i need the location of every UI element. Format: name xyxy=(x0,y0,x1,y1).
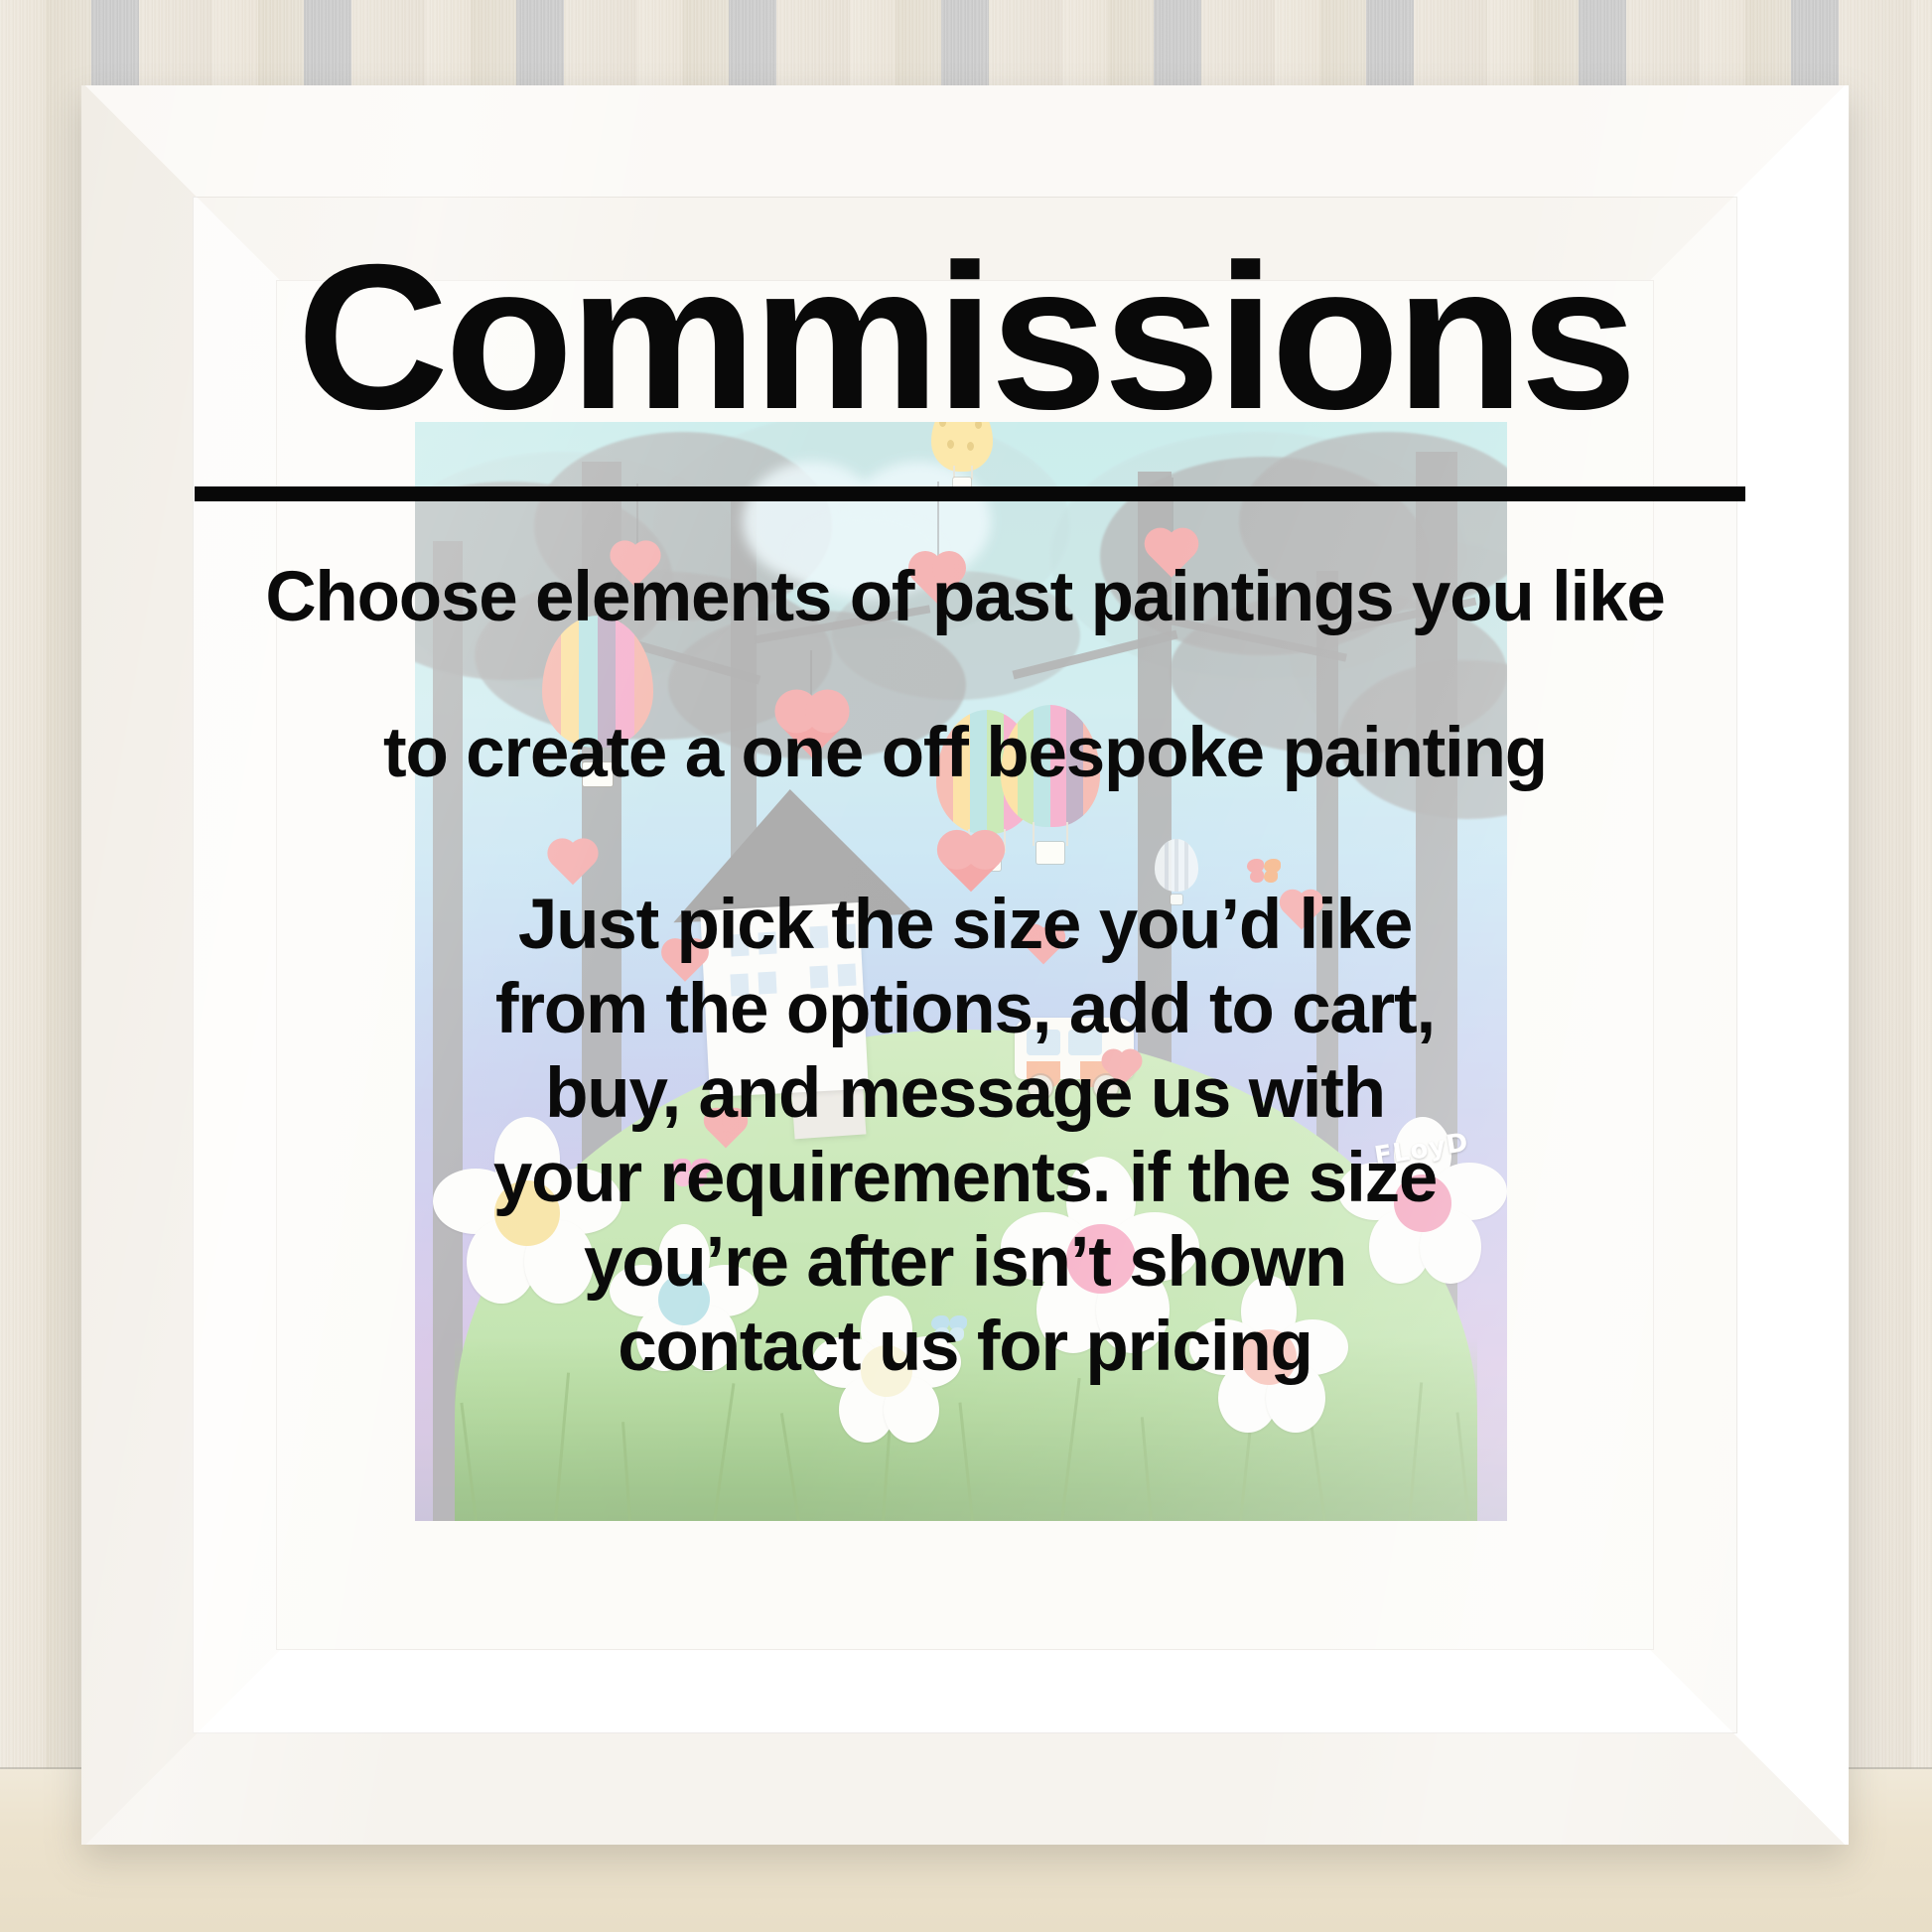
artwork-print: FLoyD xyxy=(415,422,1507,1521)
daisy-flower-white xyxy=(812,1296,961,1445)
butterfly-icon xyxy=(1247,859,1281,885)
daisy-flower-yellow xyxy=(433,1117,621,1306)
daisy-flower-peach xyxy=(1189,1276,1348,1435)
daisy-flower-blue xyxy=(610,1224,759,1373)
product-photo-scene: FLoyD Commissions Choose elements of pas… xyxy=(0,0,1932,1932)
daisy-flower-pink xyxy=(1001,1157,1199,1355)
butterfly-icon-pink xyxy=(671,1159,711,1188)
